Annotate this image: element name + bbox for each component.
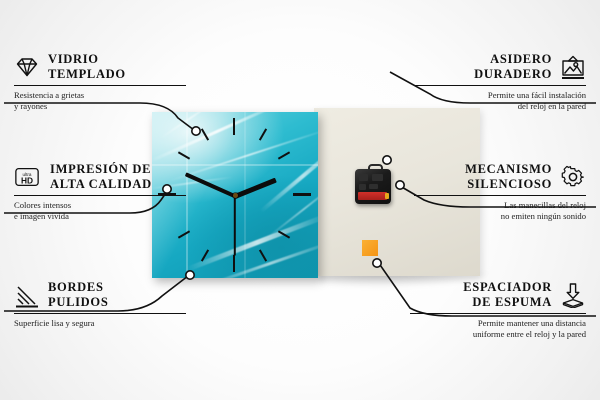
feature-description: Colores intensos e imagen vívida [14, 200, 186, 223]
ultra-hd-icon: ultra HD [14, 164, 42, 190]
feature-espaciador-de-espuma: ESPACIADOR DE ESPUMA Permite mantener un… [410, 280, 586, 341]
feature-title: VIDRIO TEMPLADO [48, 52, 126, 82]
feature-mecanismo-silencioso: MECANISMO SILENCIOSO Las manecillas del … [414, 162, 586, 223]
connector-dot [383, 156, 391, 164]
hanging-frame-icon [560, 54, 586, 80]
connector-dot [373, 259, 381, 267]
feature-impresion-alta-calidad: ultra HD IMPRESIÓN DE ALTA CALIDAD Color… [14, 162, 186, 223]
feature-description: Permite mantener una distancia uniforme … [410, 318, 586, 341]
diamond-icon [14, 54, 40, 80]
feature-vidrio-templado: VIDRIO TEMPLADO Resistencia a grietas y … [14, 52, 186, 113]
feature-asidero-duradero: ASIDERO DURADERO Permite una fácil insta… [414, 52, 586, 113]
feature-rule [414, 195, 586, 197]
feature-rule [14, 85, 186, 87]
infographic-canvas: VIDRIO TEMPLADO Resistencia a grietas y … [0, 0, 600, 400]
feature-title: ESPACIADOR DE ESPUMA [463, 280, 552, 310]
feature-description: Superficie lisa y segura [14, 318, 186, 329]
feature-description: Resistencia a grietas y rayones [14, 90, 186, 113]
feature-title: ASIDERO DURADERO [474, 52, 552, 82]
feature-description: Las manecillas del reloj no emiten ningú… [414, 200, 586, 223]
feature-title: MECANISMO SILENCIOSO [465, 162, 552, 192]
feature-description: Permite una fácil instalación del reloj … [414, 90, 586, 113]
foam-spacer-icon [560, 282, 586, 308]
gear-icon [560, 164, 586, 190]
feature-bordes-pulidos: BORDES PULIDOS Superficie lisa y segura [14, 280, 186, 329]
connector-dot [396, 181, 404, 189]
feature-rule [14, 313, 186, 315]
feature-rule [14, 195, 186, 197]
feature-rule [414, 85, 586, 87]
feature-title: IMPRESIÓN DE ALTA CALIDAD [50, 162, 152, 192]
feature-title: BORDES PULIDOS [48, 280, 108, 310]
feature-rule [410, 313, 586, 315]
svg-text:HD: HD [21, 175, 33, 185]
polished-edges-icon [14, 282, 40, 308]
connector-dot [186, 271, 194, 279]
connector-dot [192, 127, 200, 135]
